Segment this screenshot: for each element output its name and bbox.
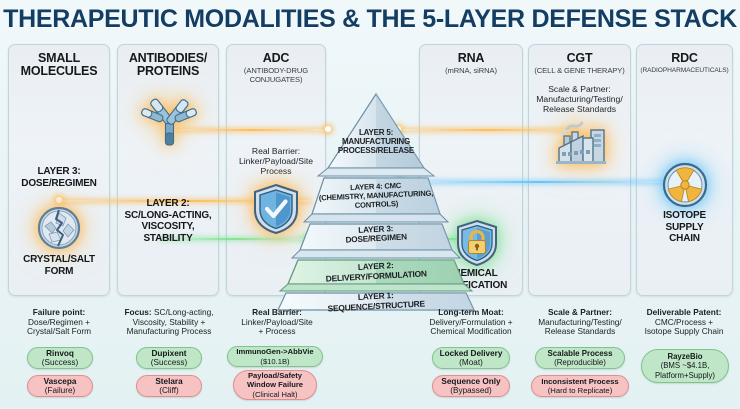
footer-caption-small-molecules: Failure point: Dose/Regimen + Crystal/Sa… bbox=[4, 308, 114, 337]
antibody-icon bbox=[141, 95, 197, 147]
footer-body: Manufacturing/Testing/ Release Standards bbox=[524, 318, 636, 337]
pill-success-cgt[interactable]: Scalable Process (Reproducible) bbox=[535, 347, 625, 369]
footer-head: Scale & Partner: bbox=[548, 307, 612, 317]
column-header-adc: ADC (ANTIBODY-DRUG CONJUGATES) bbox=[226, 47, 326, 84]
footer-caption-rdc: Deliverable Patent: CMC/Process + Isotop… bbox=[630, 308, 738, 337]
pill-failure-adc[interactable]: Payload/Safety Window Failure (Clinical … bbox=[233, 370, 317, 400]
defense-stack-pyramid: LAYER 5: MANUFACTURING PROCESS/RELEASE L… bbox=[276, 92, 476, 312]
column-title: ADC bbox=[226, 52, 326, 65]
factory-icon bbox=[553, 118, 609, 166]
cgt-scale-caption: Scale & Partner: Manufacturing/Testing/ … bbox=[528, 84, 631, 114]
pill-note: ($10.1B) bbox=[260, 357, 289, 366]
pill-name: Locked Delivery bbox=[440, 349, 503, 358]
footer-caption-adc: Real Barrier: Linker/Payload/Site + Proc… bbox=[222, 308, 332, 337]
footer-caption-cgt: Scale & Partner: Manufacturing/Testing/ … bbox=[524, 308, 636, 337]
pill-name: Dupixent bbox=[151, 349, 186, 358]
column-header-small-molecules: SMALL MOLECULES bbox=[8, 47, 110, 78]
footer-head: Deliverable Patent: bbox=[647, 307, 722, 317]
column-title: ANTIBODIES/ PROTEINS bbox=[117, 52, 219, 78]
pill-success-antibodies-proteins[interactable]: Dupixent (Success) bbox=[136, 347, 202, 369]
crystal-salt-label: CRYSTAL/SALT FORM bbox=[8, 254, 110, 277]
pill-name: Sequence Only bbox=[441, 377, 500, 386]
footer-body: Linker/Payload/Site + Process bbox=[222, 318, 332, 337]
column-title: CGT bbox=[528, 52, 631, 65]
pill-failure-rna[interactable]: Sequence Only (Bypassed) bbox=[432, 375, 510, 397]
pill-success-small-molecules[interactable]: Rinvoq (Success) bbox=[27, 347, 93, 369]
pill-name: Scalable Process bbox=[548, 349, 613, 358]
column-subtitle: (mRNA, siRNA) bbox=[419, 66, 523, 75]
column-subtitle: (RADIOPHARMACEUTICALS) bbox=[636, 66, 733, 75]
infographic-root: THERAPEUTIC MODALITIES & THE 5-LAYER DEF… bbox=[0, 0, 740, 409]
footer-body: Dose/Regimen + Crystal/Salt Form bbox=[4, 318, 114, 337]
footer-caption-rna: Long-term Moat: Delivery/Formulation + C… bbox=[411, 308, 531, 337]
pill-success-rna[interactable]: Locked Delivery (Moat) bbox=[432, 347, 510, 369]
footer-head: Failure point: bbox=[33, 307, 86, 317]
column-header-rna: RNA (mRNA, siRNA) bbox=[419, 47, 523, 75]
footer-head: Real Barrier: bbox=[252, 307, 302, 317]
page-title: THERAPEUTIC MODALITIES & THE 5-LAYER DEF… bbox=[0, 5, 740, 34]
cgt-scale-text: Scale & Partner: Manufacturing/Testing/ … bbox=[536, 84, 622, 114]
pill-note: (Bypassed) bbox=[450, 386, 491, 395]
column-panel-cgt bbox=[528, 44, 631, 296]
column-subtitle: (ANTIBODY-DRUG CONJUGATES) bbox=[226, 66, 326, 84]
beam-node-orange-3 bbox=[56, 197, 62, 203]
antibodies-layer-caption: LAYER 2: SC/LONG-ACTING, VISCOSITY, STAB… bbox=[117, 198, 219, 244]
isotope-supply-chain-label: ISOTOPE SUPPLY CHAIN bbox=[636, 210, 733, 245]
column-title: RNA bbox=[419, 52, 523, 65]
small-molecules-layer-caption: LAYER 3: DOSE/REGIMEN bbox=[8, 166, 110, 189]
pill-note: (Hard to Replicate) bbox=[548, 386, 613, 395]
crystal-salt-icon bbox=[37, 206, 81, 250]
column-header-antibodies-proteins: ANTIBODIES/ PROTEINS bbox=[117, 47, 219, 78]
footer-head: Focus: bbox=[124, 307, 151, 317]
pill-name: Payload/Safety Window Failure bbox=[247, 371, 303, 389]
pill-note: (BMS ~$4.1B, Platform+Supply) bbox=[655, 361, 715, 379]
radioactive-icon bbox=[662, 162, 708, 208]
pill-success-adc[interactable]: ImmunoGen->AbbVie ($10.1B) bbox=[227, 346, 323, 367]
column-header-cgt: CGT (CELL & GENE THERAPY) bbox=[528, 47, 631, 75]
pill-name: Rinvoq bbox=[46, 349, 74, 358]
pill-note: (Clinical Halt) bbox=[252, 390, 297, 399]
footer-body: Delivery/Formulation + Chemical Modifica… bbox=[411, 318, 531, 337]
pill-failure-small-molecules[interactable]: Vascepa (Failure) bbox=[27, 375, 93, 397]
pill-note: (Success) bbox=[151, 358, 187, 367]
pill-name: ImmunoGen->AbbVie bbox=[236, 347, 313, 356]
pill-name: Vascepa bbox=[44, 377, 77, 386]
column-subtitle: (CELL & GENE THERAPY) bbox=[528, 66, 631, 75]
pill-note: (Failure) bbox=[45, 386, 75, 395]
column-panel-antibodies-proteins bbox=[117, 44, 219, 296]
pill-name: RayzeBio bbox=[667, 352, 702, 361]
pill-name: Inconsistent Process bbox=[541, 377, 618, 386]
footer-caption-antibodies-proteins: Focus: SC/Long-acting, Viscosity, Stabil… bbox=[113, 308, 225, 337]
column-title: RDC bbox=[636, 52, 733, 65]
footer-head: Long-term Moat: bbox=[438, 307, 503, 317]
pill-failure-antibodies-proteins[interactable]: Stelara (Cliff) bbox=[136, 375, 202, 397]
pill-success-rdc[interactable]: RayzeBio (BMS ~$4.1B, Platform+Supply) bbox=[641, 349, 729, 383]
column-header-rdc: RDC (RADIOPHARMACEUTICALS) bbox=[636, 47, 733, 75]
column-title: SMALL MOLECULES bbox=[8, 52, 110, 78]
pill-note: (Success) bbox=[42, 358, 78, 367]
pill-note: (Reproducible) bbox=[554, 358, 606, 367]
footer-body: CMC/Process + Isotope Supply Chain bbox=[630, 318, 738, 337]
pill-name: Stelara bbox=[155, 377, 182, 386]
pill-note: (Cliff) bbox=[159, 386, 178, 395]
pill-note: (Moat) bbox=[459, 358, 483, 367]
pill-failure-cgt[interactable]: Inconsistent Process (Hard to Replicate) bbox=[531, 375, 629, 397]
